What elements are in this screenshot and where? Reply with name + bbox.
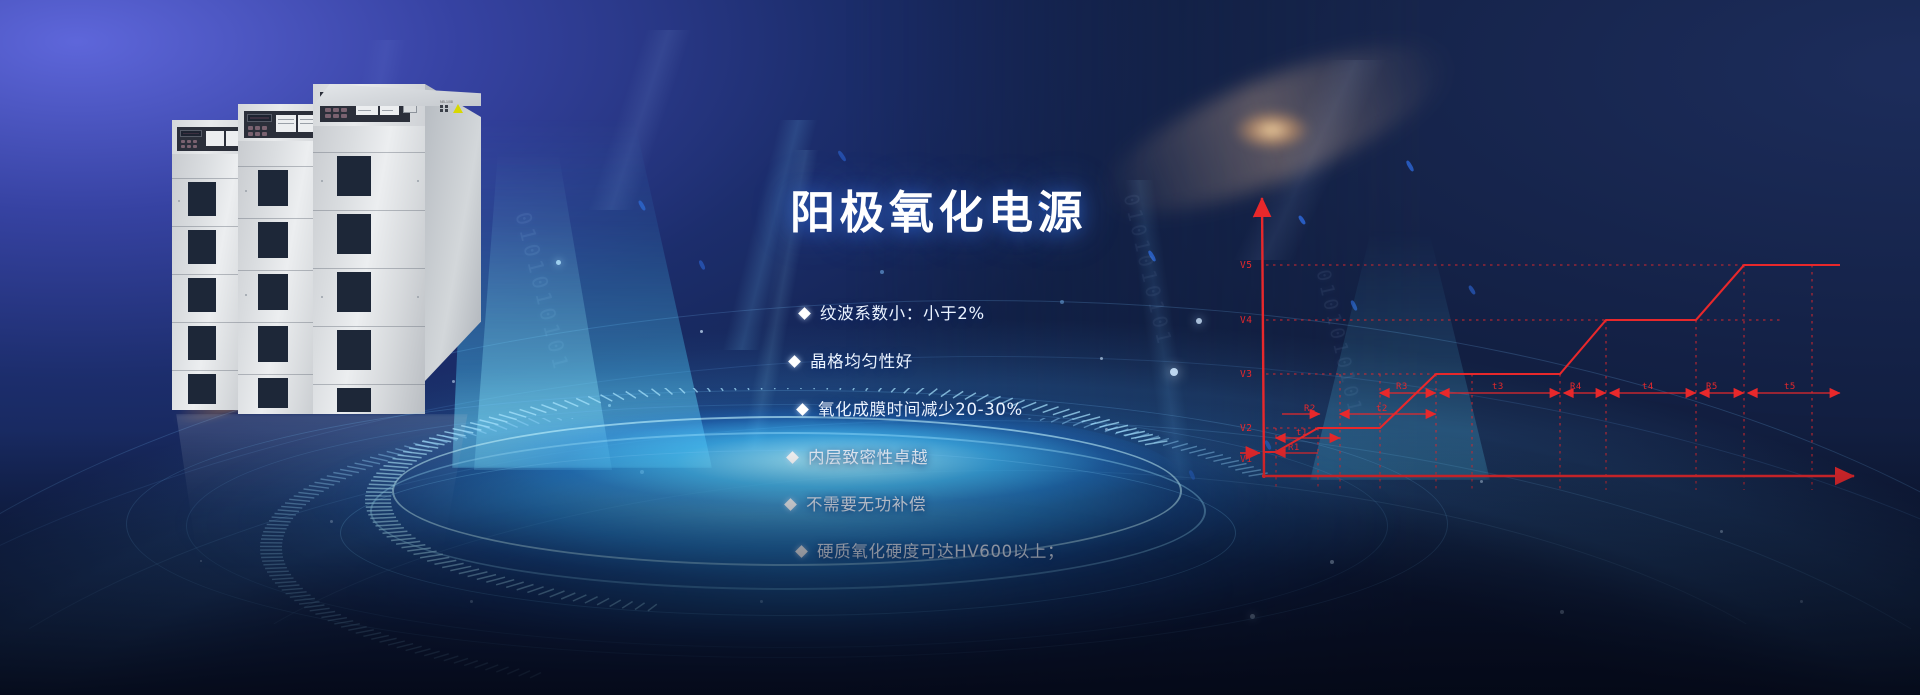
keypad-button[interactable] <box>325 108 331 112</box>
list-item: 纹波系数小：小于2% <box>800 300 985 324</box>
diamond-bullet-icon <box>784 498 797 511</box>
diamond-bullet-icon <box>786 451 799 464</box>
chart-svg: V5 V4 V3 V2 V1 R1 t1 R2 <box>1240 190 1880 500</box>
diamond-bullet-icon <box>788 355 801 368</box>
page-title: 阳极氧化电源 <box>790 176 1087 241</box>
keypad-button[interactable] <box>333 114 339 118</box>
binary-column: 0101010101 <box>1119 191 1178 349</box>
y-tick-label: V5 <box>1240 260 1253 271</box>
voltage-ramp-chart: V5 V4 V3 V2 V1 R1 t1 R2 <box>1240 190 1880 500</box>
segment-label: R5 <box>1706 382 1718 392</box>
segment-label: t3 <box>1492 382 1504 392</box>
warning-triangle-icon <box>453 104 463 113</box>
promo-banner: 0101010101 0101010101 0101010101 <box>0 0 1920 695</box>
power-supply-cabinets: NB-1/08 <box>170 84 480 414</box>
cabinet-side-face <box>425 84 481 414</box>
chart-waveform <box>1264 265 1840 476</box>
segment-label: t1 <box>1296 428 1308 438</box>
keypad-button[interactable] <box>325 114 331 118</box>
chart-dimension-row: R3 t3 R4 t4 R5 t5 <box>1380 382 1840 393</box>
keypad-button[interactable] <box>341 108 347 112</box>
segment-label: R4 <box>1570 382 1582 392</box>
segment-label: R3 <box>1396 382 1408 392</box>
list-item: 内层致密性卓越 <box>788 444 928 468</box>
list-item: 晶格均匀性好 <box>790 348 913 372</box>
segment-label: t2 <box>1376 404 1388 414</box>
chart-gridlines-h <box>1266 265 1780 428</box>
segment-label: R1 <box>1288 443 1300 453</box>
list-item: 不需要无功补偿 <box>786 491 926 515</box>
cabinet-front <box>313 84 425 414</box>
chart-y-labels: V5 V4 V3 V2 V1 <box>1240 260 1253 465</box>
chart-gridlines-v <box>1276 265 1812 490</box>
segment-label: R2 <box>1304 404 1316 414</box>
cabinet-reflection <box>170 414 480 584</box>
cabinet-display <box>247 114 272 122</box>
y-tick-label: V3 <box>1240 369 1253 380</box>
diamond-bullet-icon <box>798 307 811 320</box>
chart-dimension-t2: t2 <box>1340 404 1436 414</box>
list-item: 氧化成膜时间减少20-30% <box>798 396 1023 420</box>
diamond-bullet-icon <box>795 545 808 558</box>
y-tick-label: V1 <box>1240 454 1253 465</box>
warning-label: NB-1/08 <box>440 100 466 114</box>
keypad-button[interactable] <box>333 108 339 112</box>
podium-top <box>392 404 1182 554</box>
segment-label: t4 <box>1642 382 1654 392</box>
keypad-button[interactable] <box>341 114 347 118</box>
binary-column: 0101010101 <box>510 210 573 375</box>
y-tick-label: V4 <box>1240 315 1253 326</box>
lens-flare-primary <box>1222 104 1322 156</box>
y-tick-label: V2 <box>1240 423 1253 434</box>
cabinet-display <box>180 130 202 137</box>
chart-dimension-r2: R2 <box>1282 404 1320 414</box>
chart-axes <box>1262 198 1854 478</box>
diamond-bullet-icon <box>796 403 809 416</box>
segment-label: t5 <box>1784 382 1796 392</box>
list-item: 硬质氧化硬度可达HV600以上； <box>797 538 1064 562</box>
